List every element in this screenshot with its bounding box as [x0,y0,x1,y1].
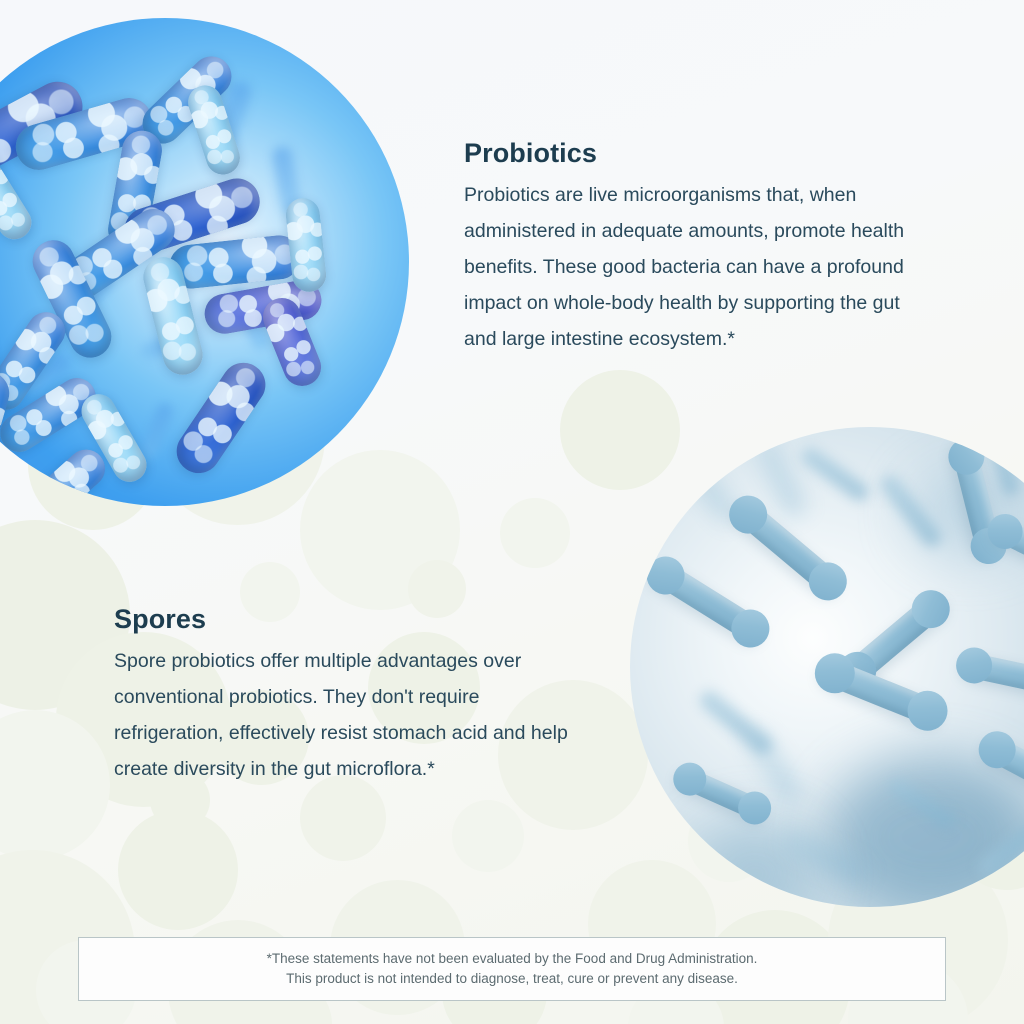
spore-dumbbell [674,764,771,823]
bacteria-rod-blurred [139,401,176,461]
disclaimer-line-1: *These statements have not been evaluate… [267,949,758,969]
probiotics-body: Probiotics are live microorganisms that,… [464,177,934,357]
spores-body: Spore probiotics offer multiple advantag… [114,643,594,787]
probiotics-text-block: Probiotics Probiotics are live microorga… [464,138,934,357]
spores-heading: Spores [114,604,594,635]
spore-dumbbell-blurred [798,444,872,504]
spores-bacteria-photo [630,427,1024,907]
spore-dumbbell [647,557,769,647]
bubble [118,810,238,930]
bubble [300,450,460,610]
bacteria-rod [284,196,328,293]
probiotics-bacteria-photo [0,18,409,506]
probiotics-heading: Probiotics [464,138,934,169]
infographic-canvas: Probiotics Probiotics are live microorga… [0,0,1024,1024]
bubble [0,710,110,860]
bubble [560,370,680,490]
bubble [0,520,130,710]
spores-text-block: Spores Spore probiotics offer multiple a… [114,604,594,787]
depth-smudge [826,757,1024,907]
bubble [300,775,386,861]
fda-disclaimer-box: *These statements have not been evaluate… [78,937,946,1001]
disclaimer-line-2: This product is not intended to diagnose… [286,969,738,989]
bubble [452,800,524,872]
spore-dumbbell [959,651,1024,700]
bubble [500,498,570,568]
depth-smudge [690,819,820,907]
